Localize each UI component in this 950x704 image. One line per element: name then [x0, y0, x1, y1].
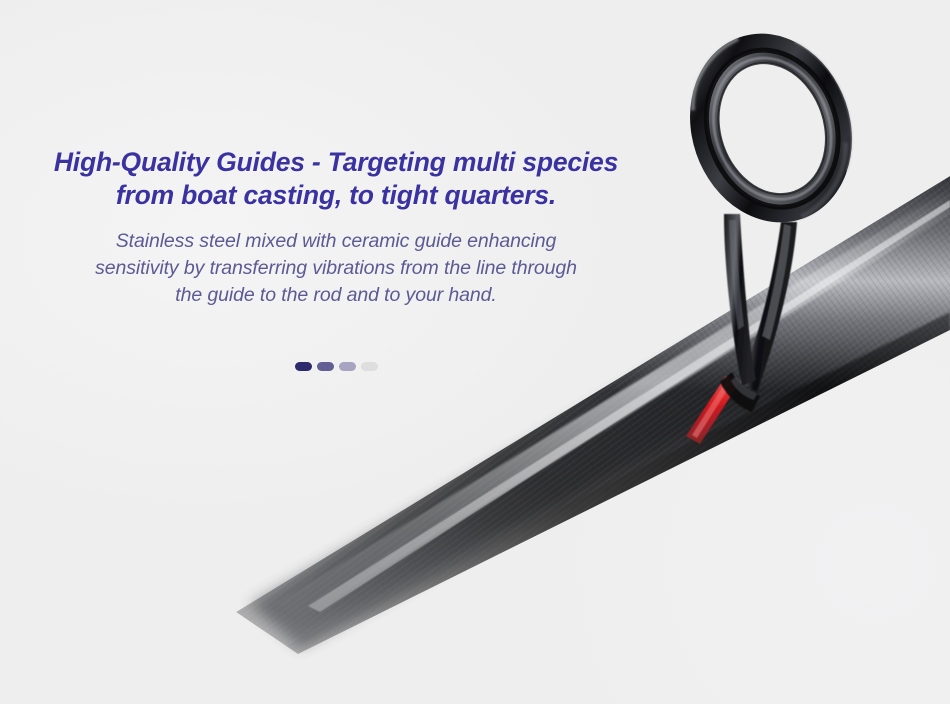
background-wash: [0, 0, 950, 704]
fishing-rod-image: [0, 0, 950, 704]
headline-line-1: High-Quality Guides - Targeting multi sp…: [0, 146, 672, 179]
feature-copy: High-Quality Guides - Targeting multi sp…: [0, 146, 672, 309]
carousel-dot-3[interactable]: [339, 362, 356, 371]
product-feature-panel: High-Quality Guides - Targeting multi sp…: [0, 0, 950, 704]
carousel-dot-4[interactable]: [361, 362, 378, 371]
carousel-dot-2[interactable]: [317, 362, 334, 371]
carousel-pagination[interactable]: [0, 362, 672, 371]
feature-description: Stainless steel mixed with ceramic guide…: [0, 228, 672, 309]
headline-line-2: from boat casting, to tight quarters.: [0, 179, 672, 212]
description-line-3: the guide to the rod and to your hand.: [0, 282, 672, 309]
description-line-1: Stainless steel mixed with ceramic guide…: [0, 228, 672, 255]
page-title: High-Quality Guides - Targeting multi sp…: [0, 146, 672, 212]
description-line-2: sensitivity by transferring vibrations f…: [0, 255, 672, 282]
carousel-dot-1[interactable]: [295, 362, 312, 371]
